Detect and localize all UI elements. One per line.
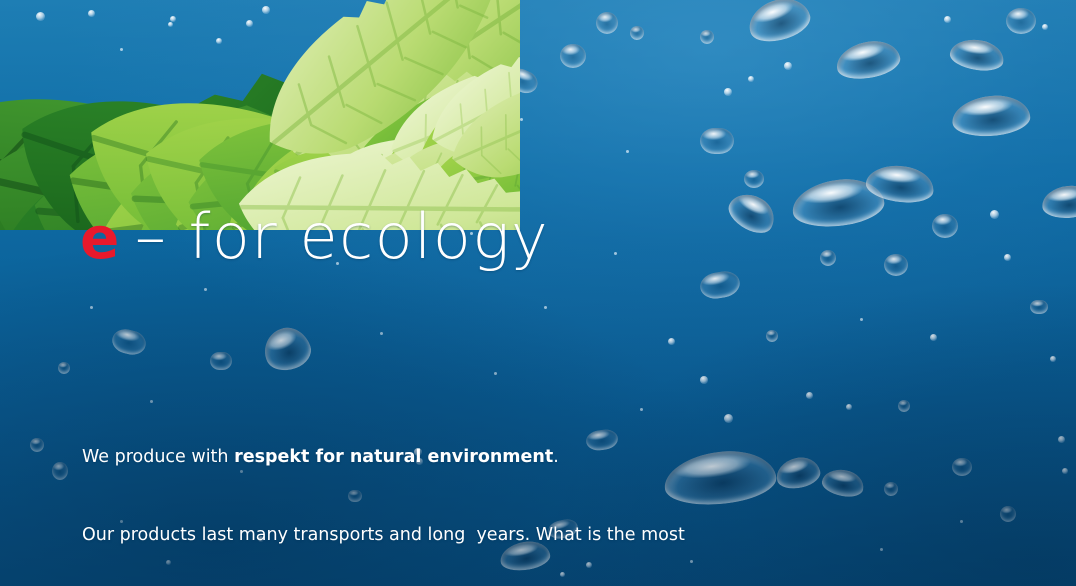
headline: e – for ecology [80, 206, 549, 268]
body-line-1-strong: respekt for natural environment [234, 447, 553, 467]
body-line-2: Our products last many transports and lo… [82, 522, 742, 548]
body-line-1: We produce with respekt for natural envi… [82, 444, 742, 470]
brand-mark-e: e [80, 209, 119, 267]
ecology-poster: e – for ecology We produce with respekt … [0, 0, 1076, 586]
headline-tagline: – for ecology [135, 206, 549, 268]
body-line-1-tail: . [553, 447, 559, 467]
body-line-1-lead: We produce with [82, 447, 234, 467]
body-copy: We produce with respekt for natural envi… [82, 392, 742, 586]
